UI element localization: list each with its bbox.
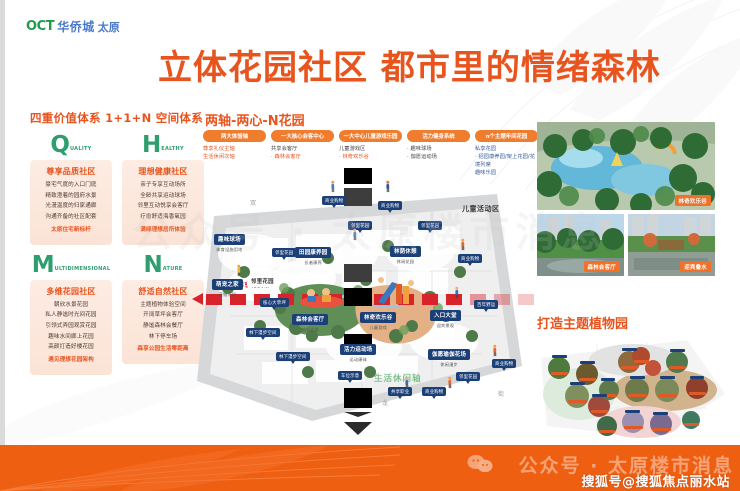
pill-item: · 趣味球场 [407,145,470,153]
left-section-heading: 四重价值体系 1+1+N 空间体系 [30,110,203,126]
poi-sub: 长者康养 [295,260,331,266]
pill-item: · 林奇欢乐谷 [339,153,402,161]
photo-label: 林奇欢乐谷 [675,195,711,206]
wechat-icon [467,454,493,472]
map-tag[interactable]: 邻里花园 [272,248,296,257]
poi-sub: 休闲花园 [390,259,421,265]
map-tag[interactable]: 百年野运 [474,300,498,309]
map-poi[interactable]: 邻里花园 [247,268,278,287]
card-title: 多维花园社区 [34,286,108,297]
pill-item: · 招园康养园/架上花园/花境列席 [475,153,538,169]
poi-name: 入口大堂 [430,310,461,321]
map-poi[interactable]: 田园康养园 长者康养 [295,239,331,266]
poi-sub: 休闲漫步 [428,362,470,368]
card-item: 私人静谧时光间花园 [34,312,108,319]
map-tag[interactable]: 邻里花园 [456,372,480,381]
person-figure-icon [492,344,499,357]
poi-name: 林荫休憩 [390,246,421,257]
pill-label: 一大核心会客中心 [271,130,334,142]
axis-arrow-down-thin-icon [344,412,372,417]
value-card-quality[interactable]: QUALITY 尊享品质社区 豪宅气度的入口门庭 精致澄着的园府水景 光漫温度的… [30,134,112,245]
map-tag[interactable]: 商业购物 [322,196,346,205]
map-poi[interactable]: 森林会客厅 邻里会客 [292,306,328,333]
pill-item: 共享会客厅 [271,145,334,153]
theme-plant-garden-diagram[interactable] [537,334,729,442]
axis-arrow-left-icon [192,293,203,305]
value-cards: QUALITY 尊享品质社区 豪宅气度的入口门庭 精致澄着的园府水景 光漫温度的… [30,134,205,384]
poi-name: 伽愿瑜伽花场 [428,349,470,360]
pill-column[interactable]: n个主题年间花园 私享花园 · 招园康养园/架上花园/花境列席 趣味乐园 [475,130,538,177]
map-poi[interactable]: 入口大堂 迎宾景观 [430,302,461,329]
photo-gallery: 林奇欢乐谷 [537,122,715,276]
photo-row: 森林会客厅 迎宾叠水 [537,214,715,276]
card-item: 邻里互动悦享会客厅 [126,203,200,210]
pill-item: 生活休闲次轴 [203,153,266,161]
playground-illustration [372,276,418,306]
pill-label: 两大体验轴 [203,130,266,142]
card-highlight: 森享公园生活零距离 [126,346,200,353]
map-tag[interactable]: 邻里花园 [418,221,442,230]
card-item: 引领式弄园观赏花园 [34,323,108,330]
pill-item: 尊享礼仪主轴 [203,145,266,153]
plant-diagram-base [537,334,729,442]
poi-name: 田园康养园 [295,247,331,258]
card-letter-m: MULTIDIMENSIONAL [30,254,112,277]
masterplan-map[interactable]: 尊享礼仪轴 生活休闲轴 双 龙 街 [192,176,537,441]
footer-fan-decoration [0,445,420,491]
card-item: 精致澄着的园府水景 [34,193,108,200]
pill-item: · 伽愿运动场 [407,153,470,161]
value-card-row-2: MULTIDIMENSIONAL 多维花园社区 朝欣水景花园 私人静谧时光间花园… [30,254,205,375]
photo-label: 森林会客厅 [584,261,620,272]
map-tag[interactable]: 商业购物 [422,387,446,396]
lawn-picnic-illustration [298,284,346,308]
card-highlight: 遇见理想花园架构 [34,357,108,364]
poi-name: 萌宠之家 [212,279,243,290]
poi-name: 林奇欢乐谷 [360,312,396,323]
person-figure-icon [460,238,467,251]
card-item: 亲子专享互动场所 [126,182,200,189]
person-figure-icon [236,264,243,277]
left-edge-bar [0,0,5,445]
map-poi[interactable]: 林奇欢乐谷 儿童游戏 [360,304,396,331]
pill-item: 私享花园 [475,145,538,153]
center-section-heading: 两轴-两心-N花园 [205,110,305,129]
watermark-sohu: 搜狐号@搜狐焦点丽水站 [581,471,730,490]
pill-label: 一大中心儿童游戏乐园 [339,130,402,142]
logo-oct-text: OCT [26,19,54,34]
pill-column[interactable]: 一大核心会客中心 共享会客厅 · 森林会客厅 [271,130,334,177]
map-tag[interactable]: 林下漫步空间 [276,352,310,361]
map-tag[interactable]: 商业购物 [458,254,482,263]
card-title: 舒适自然社区 [126,286,200,297]
poi-sub: 迎宾景观 [430,323,461,329]
poi-name: 趣味球场 [214,234,245,245]
logo-city-text: 太原 [98,19,120,35]
poi-sub: 宠物乐园 [212,292,243,298]
plants-section-heading: 打造主题植物园 [537,313,628,332]
card-item: 静谧森林会餐厅 [126,323,200,330]
person-figure-icon [385,180,392,193]
card-item: 主题植物体验空间 [126,302,200,309]
axis-arrow-down-icon [344,422,372,435]
photo-linqi-valley[interactable]: 林奇欢乐谷 [537,122,715,210]
poi-sub: 体育设施用地 [214,247,245,253]
map-poi[interactable]: 伽愿瑜伽花场 休闲漫步 [428,341,470,368]
poi-name: 邻里花园 [247,276,278,287]
person-figure-icon [447,376,454,389]
person-figure-icon [330,180,337,193]
map-poi[interactable]: 林荫休憩 休闲花园 [390,238,421,265]
poi-name: 活力运动场 [340,344,376,355]
map-tag[interactable]: 商业购物 [378,201,402,210]
card-item: 光漫温度的归家通廊 [34,203,108,210]
footer-bar: 公众号 · 太原楼市消息 搜狐号@搜狐焦点丽水站 [0,445,740,491]
person-figure-icon [454,286,461,299]
page-title: 立体花园社区 都市里的情绪森林 [158,40,618,89]
map-tag[interactable]: 核心大草坪 [260,298,289,307]
street-label-bottom-left: 龙 [382,398,389,407]
map-tag[interactable]: 车位示意 [338,371,362,380]
card-item: 沟通齐备的社区配套 [34,214,108,221]
poi-sub: 儿童游戏 [360,325,396,331]
card-highlight: 太原住宅新标杆 [34,227,108,234]
photo-entry-water[interactable]: 迎宾叠水 [628,214,715,276]
street-label-bottom-right: 街 [498,389,505,398]
map-tag[interactable]: 林下漫步空间 [246,328,280,337]
card-item: 全龄共享运动球场 [126,193,200,200]
card-item: 疗愈舒适海香氧园 [126,214,200,221]
poi-name: 森林会客厅 [292,314,328,325]
photo-label: 迎宾叠水 [680,261,711,272]
card-letter-h: HEALTHY [122,134,204,157]
poi-sub: 邻里会客 [292,327,328,333]
street-label-top: 双 [250,198,257,207]
photo-forest-lounge[interactable]: 森林会客厅 [537,214,624,276]
value-card-multidimensional[interactable]: MULTIDIMENSIONAL 多维花园社区 朝欣水景花园 私人静谧时光间花园… [30,254,112,375]
card-title: 尊享品质社区 [34,166,108,177]
value-card-row-1: QUALITY 尊享品质社区 豪宅气度的入口门庭 精致澄着的园府水景 光漫温度的… [30,134,205,245]
card-highlight: 满绿理想居所体验 [126,227,200,234]
pill-item: 儿童游戏区 [339,145,402,153]
card-item: 朝欣水景花园 [34,302,108,309]
pill-column[interactable]: 两大体验轴 尊享礼仪主轴 生活休闲次轴 [203,130,266,177]
map-poi[interactable]: 趣味球场 体育设施用地 [214,226,245,253]
card-letter-q: QUALITY [30,134,112,157]
pill-item: · 森林会客厅 [271,153,334,161]
pill-label: n个主题年间花园 [475,130,538,142]
kids-zone-label: 儿童活动区 [462,204,500,214]
card-item: 林下停车场 [126,334,200,341]
pill-label: 活力健身系统 [407,130,470,142]
map-tag[interactable]: 商业购物 [492,359,516,368]
card-item: 开阔草坪会客厅 [126,312,200,319]
card-item: 豪宅气度的入口门庭 [34,182,108,189]
logo-brand-text: 华侨城 [57,18,95,35]
pill-column[interactable]: 活力健身系统 · 趣味球场 · 伽愿运动场 [407,130,470,177]
person-figure-icon [352,228,359,241]
map-poi[interactable]: 活力运动场 运动康体 [340,336,376,363]
map-axis-green-label: 生活休闲轴 [374,372,422,384]
card-item: 趣味水间廊上花园 [34,334,108,341]
brand-logo[interactable]: OCT 华侨城 太原 [26,18,120,35]
card-item: 高颜打造好楼花园 [34,344,108,351]
card-title: 理想健康社区 [126,166,200,177]
poster-root: OCT 华侨城 太原 立体花园社区 都市里的情绪森林 四重价值体系 1+1+N … [0,0,740,491]
poi-sub: 运动康体 [340,357,376,363]
person-figure-icon [404,376,411,389]
